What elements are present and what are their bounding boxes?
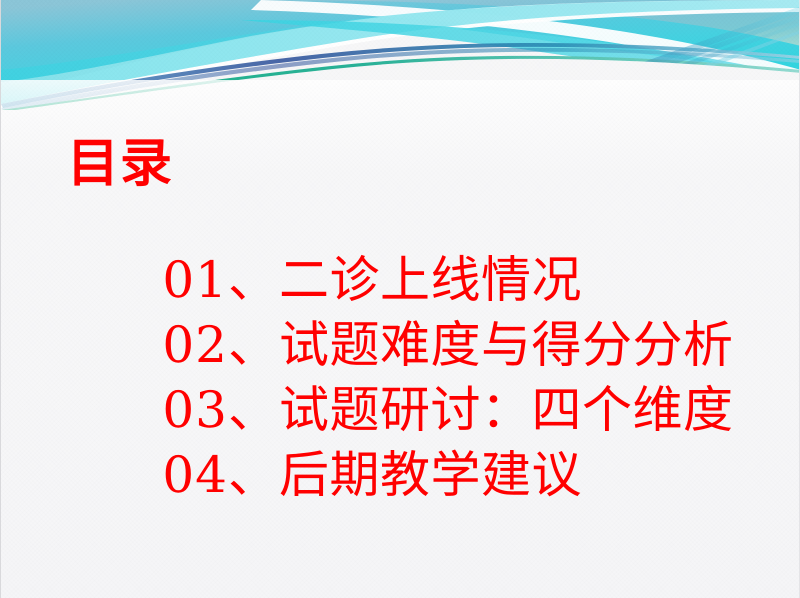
wave-banner-graphic [1, 0, 800, 110]
toc-item-04[interactable]: 04、后期教学建议 [67, 400, 582, 550]
toc-item-04-index: 04、 [162, 446, 279, 504]
toc-item-04-label: 后期教学建议 [279, 446, 582, 504]
decorative-wave-banner [1, 0, 800, 110]
page-title: 目录 [67, 138, 173, 190]
presentation-slide: 目录 01、二诊上线情况 02、试题难度与得分分析 03、试题研讨：四个维度 0… [0, 0, 800, 598]
